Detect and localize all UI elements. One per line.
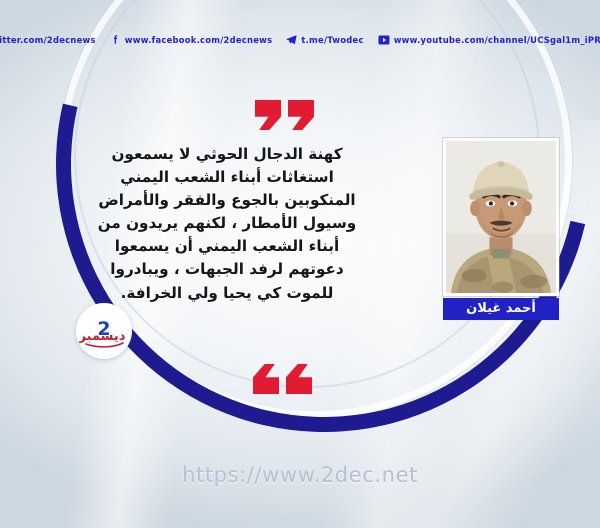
quote-mark-close-icon (253, 364, 312, 394)
svg-text:ديسمبر: ديسمبر (79, 329, 126, 344)
social-link-label: t.me/Twodec (301, 35, 363, 45)
social-link-twitter[interactable]: twitter.com/2decnews (0, 34, 96, 45)
speaker-block: أحمد غيلان (443, 138, 559, 320)
quote-text: كهنة الدجال الحوثي لا يسمعون استغاثات أب… (96, 143, 358, 305)
brand-logo[interactable]: 2 ديسمبر (76, 303, 132, 359)
social-link-telegram[interactable]: t.me/Twodec (286, 34, 363, 45)
social-link-youtube[interactable]: www.youtube.com/channel/UCSgal1m_iPRiGNC… (378, 35, 600, 45)
telegram-icon (286, 34, 297, 45)
speaker-name: أحمد غيلان (443, 298, 559, 320)
speaker-photo (443, 138, 559, 296)
facebook-icon (110, 34, 121, 45)
quote-card: twitter.com/2decnews www.facebook.com/2d… (0, 0, 600, 528)
quote-mark-open-icon (255, 100, 314, 130)
youtube-icon (378, 35, 390, 45)
social-links-bar: twitter.com/2decnews www.facebook.com/2d… (0, 34, 600, 45)
social-link-label: twitter.com/2decnews (0, 35, 96, 45)
website-url[interactable]: https://www.2dec.net (0, 463, 600, 487)
social-link-label: www.youtube.com/channel/UCSgal1m_iPRiGNC… (394, 35, 600, 45)
social-link-label: www.facebook.com/2decnews (125, 35, 273, 45)
social-link-facebook[interactable]: www.facebook.com/2decnews (110, 34, 273, 45)
